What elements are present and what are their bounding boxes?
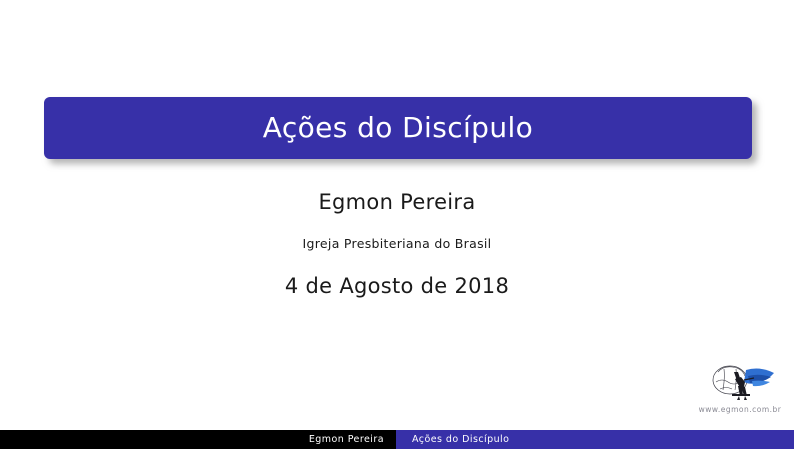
title-banner: Ações do Discípulo [44,97,752,159]
egmon-logo-icon [692,356,788,406]
presentation-slide: Ações do Discípulo Egmon Pereira Igreja … [0,0,794,449]
title-meta-block: Egmon Pereira Igreja Presbiteriana do Br… [0,190,794,298]
presentation-date: 4 de Agosto de 2018 [0,274,794,298]
slide-footer: Egmon Pereira Ações do Discípulo [0,430,794,449]
footer-title-segment: Ações do Discípulo [396,430,794,449]
page-title: Ações do Discípulo [263,114,533,142]
footer-author-segment: Egmon Pereira [0,430,396,449]
institute-name: Igreja Presbiteriana do Brasil [0,236,794,251]
logo-area: www.egmon.com.br [692,356,788,422]
author-name: Egmon Pereira [0,190,794,214]
logo-url-text: www.egmon.com.br [692,405,788,414]
